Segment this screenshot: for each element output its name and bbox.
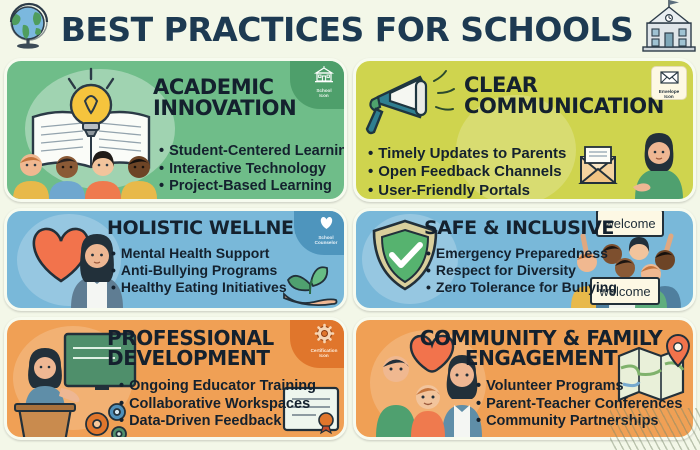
globe-icon: [3, 0, 53, 59]
card-title: SAFE & INCLUSIVE: [424, 219, 614, 238]
list-item: Open Feedback Channels: [368, 163, 566, 181]
list-item: Timely Updates to Parents: [368, 145, 566, 163]
list-item: Parent-Teacher Conferences: [476, 396, 682, 414]
school-building-icon: [314, 61, 334, 89]
list-item: Collaborative Workspaces: [119, 396, 316, 414]
list-item: Data-Driven Feedback: [119, 413, 316, 431]
card-bullet-list: Mental Health Support Anti-Bullying Prog…: [111, 245, 287, 296]
list-item: Project-Based Learning: [159, 178, 347, 196]
best-practices-grid: ACADEMIC INNOVATION Student-Centered Lea…: [4, 58, 696, 446]
list-item: Student-Centered Learning: [159, 143, 347, 161]
badge-school-counselor[interactable]: School Counselor: [294, 208, 347, 255]
card-academic-innovation[interactable]: ACADEMIC INNOVATION Student-Centered Lea…: [4, 58, 347, 202]
card-bullet-list: Student-Centered Learning Interactive Te…: [159, 143, 347, 196]
list-item: Healthy Eating Initiatives: [111, 279, 287, 296]
page-header: BEST PRACTICES FOR SCHOOLS: [0, 0, 700, 58]
heart-icon: [318, 210, 335, 236]
school-building-icon: [641, 0, 697, 60]
list-item: Anti-Bullying Programs: [111, 262, 287, 279]
list-item: Community Partnerships: [476, 413, 682, 431]
card-bullet-list: Volunteer Programs Parent-Teacher Confer…: [476, 378, 682, 431]
badge-envelope-icon[interactable]: Envelope Icon: [651, 66, 687, 100]
card-bullet-list: Emergency Preparedness Respect for Diver…: [426, 245, 617, 296]
card-bullet-list: Timely Updates to Parents Open Feedback …: [368, 145, 566, 200]
page-title: BEST PRACTICES FOR SCHOOLS: [61, 13, 634, 46]
card-holistic-wellness[interactable]: HOLISTIC WELLNESS Mental Health Support …: [4, 208, 347, 311]
badge-school-icon[interactable]: School Icon: [290, 58, 347, 109]
list-item: Mental Health Support: [111, 245, 287, 262]
card-clear-communication[interactable]: CLEAR COMMUNICATION Timely Updates to Pa…: [353, 58, 696, 202]
card-safe-and-inclusive[interactable]: welcome welcome SAFE & INCLUSIVE Emergen…: [353, 208, 696, 311]
card-title: COMMUNITY & FAMILY ENGAGEMENT: [416, 328, 666, 368]
envelope-icon: [660, 66, 679, 90]
list-item: Emergency Preparedness: [426, 245, 617, 262]
card-community-family-engagement[interactable]: COMMUNITY & FAMILY ENGAGEMENT Volunteer …: [353, 317, 696, 440]
card-professional-development[interactable]: PROFESSIONAL DEVELOPMENT Ongoing Educato…: [4, 317, 347, 440]
badge-label: School Icon: [316, 89, 331, 99]
list-item: Ongoing Educator Training: [119, 378, 316, 396]
list-item: Zero Tolerance for Bullying: [426, 279, 617, 296]
list-item: Interactive Technology: [159, 161, 347, 179]
badge-certification-icon[interactable]: Certification Icon: [290, 317, 347, 368]
list-item: User-Friendly Portals: [368, 182, 566, 200]
badge-label: Certification Icon: [311, 349, 338, 359]
card-title: PROFESSIONAL DEVELOPMENT: [107, 328, 274, 368]
card-title: ACADEMIC INNOVATION: [153, 77, 296, 119]
card-title: HOLISTIC WELLNESS: [107, 219, 319, 238]
badge-label: School Counselor: [315, 236, 338, 246]
gear-icon: [315, 319, 334, 349]
list-item: Respect for Diversity: [426, 262, 617, 279]
infographic-page: BEST PRACTICES FOR SCHOOLS: [0, 0, 700, 450]
badge-label: Envelope Icon: [659, 90, 679, 100]
card-bullet-list: Ongoing Educator Training Collaborative …: [119, 378, 316, 431]
card-title: CLEAR COMMUNICATION: [464, 75, 664, 117]
list-item: Volunteer Programs: [476, 378, 682, 396]
